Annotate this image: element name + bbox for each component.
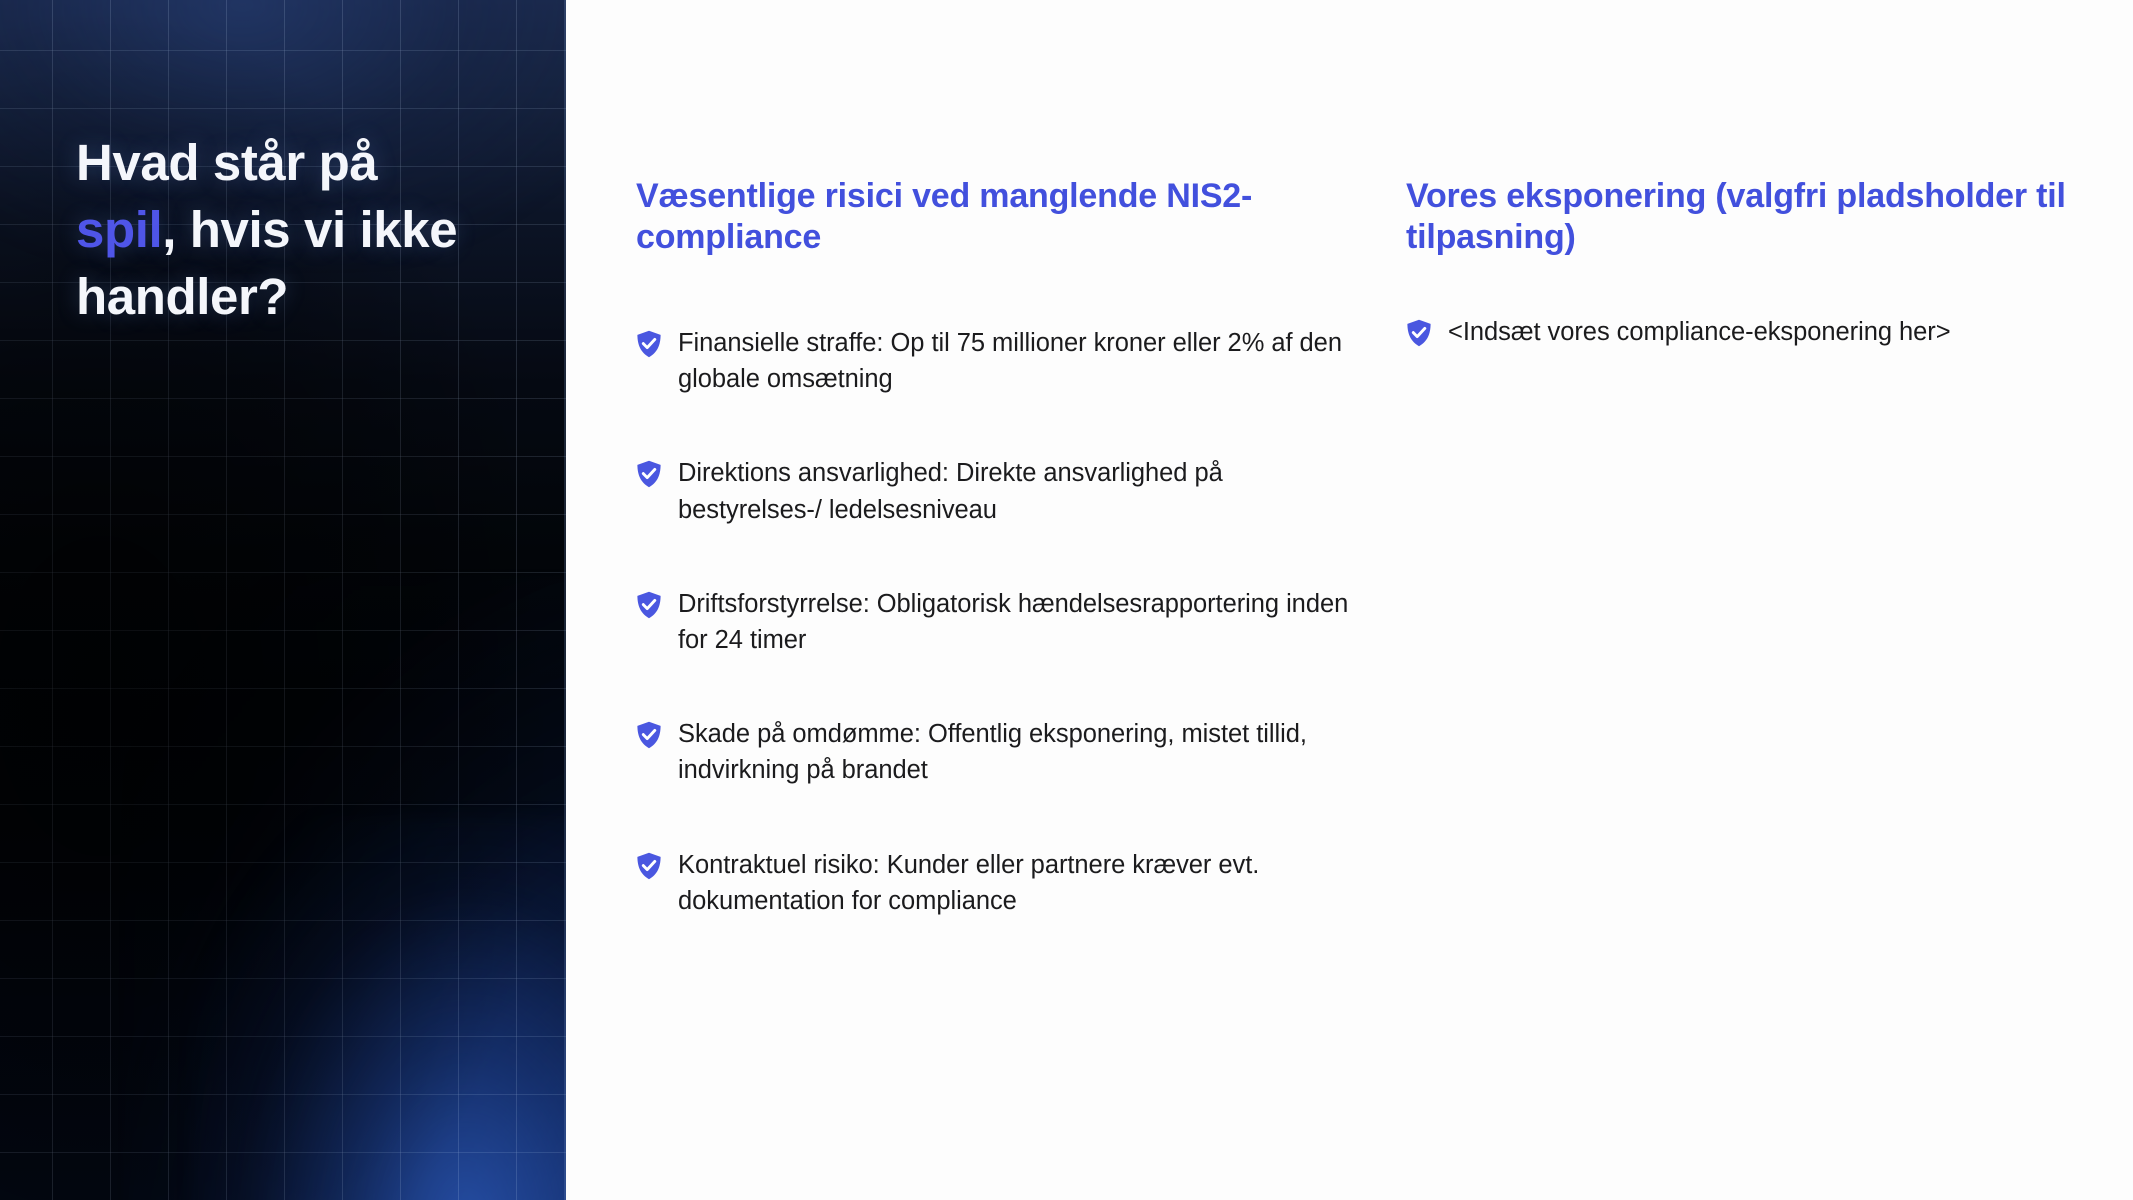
column-risks: Væsentlige risici ved manglende NIS2-com… [636, 176, 1356, 919]
slide-root: Hvad står påspil, hvis vi ikkehandler? V… [0, 0, 2133, 1200]
list-item-text: Driftsforstyrrelse: Obligatorisk hændels… [678, 586, 1356, 658]
shield-check-icon [636, 460, 662, 488]
column-exposure-title: Vores eksponering (valgfri pladsholder t… [1406, 176, 2106, 259]
list-item: Driftsforstyrrelse: Obligatorisk hændels… [636, 586, 1356, 658]
shield-check-icon [636, 591, 662, 619]
shield-check-icon [636, 330, 662, 358]
list-item: Skade på omdømme: Offentlig eksponering,… [636, 716, 1356, 788]
column-risks-bullet-list: Finansielle straffe: Op til 75 millioner… [636, 325, 1356, 919]
headline-accent-word: spil [76, 201, 162, 258]
list-item: <Indsæt vores compliance-eksponering her… [1406, 314, 2106, 350]
headline-line-2-rest: , hvis vi ikke [162, 201, 457, 258]
list-item: Direktions ansvarlighed: Direkte ansvarl… [636, 455, 1356, 527]
list-item-text: Finansielle straffe: Op til 75 millioner… [678, 325, 1356, 397]
list-item-text: Skade på omdømme: Offentlig eksponering,… [678, 716, 1356, 788]
shield-check-icon [636, 852, 662, 880]
headline-line-3: handler? [76, 268, 288, 325]
left-title-panel: Hvad står påspil, hvis vi ikkehandler? [0, 0, 566, 1200]
slide-headline: Hvad står påspil, hvis vi ikkehandler? [76, 130, 526, 330]
shield-check-icon [636, 721, 662, 749]
list-item: Kontraktuel risiko: Kunder eller partner… [636, 847, 1356, 919]
list-item-text: Kontraktuel risiko: Kunder eller partner… [678, 847, 1356, 919]
column-exposure-bullet-list: <Indsæt vores compliance-eksponering her… [1406, 314, 2106, 350]
column-exposure: Vores eksponering (valgfri pladsholder t… [1406, 176, 2106, 350]
column-risks-title: Væsentlige risici ved manglende NIS2-com… [636, 176, 1356, 259]
list-item: Finansielle straffe: Op til 75 millioner… [636, 325, 1356, 397]
list-item-text: <Indsæt vores compliance-eksponering her… [1448, 314, 1951, 350]
shield-check-icon [1406, 319, 1432, 347]
headline-line-1: Hvad står på [76, 134, 377, 191]
list-item-text: Direktions ansvarlighed: Direkte ansvarl… [678, 455, 1356, 527]
content-area: Væsentlige risici ved manglende NIS2-com… [566, 0, 2133, 1200]
